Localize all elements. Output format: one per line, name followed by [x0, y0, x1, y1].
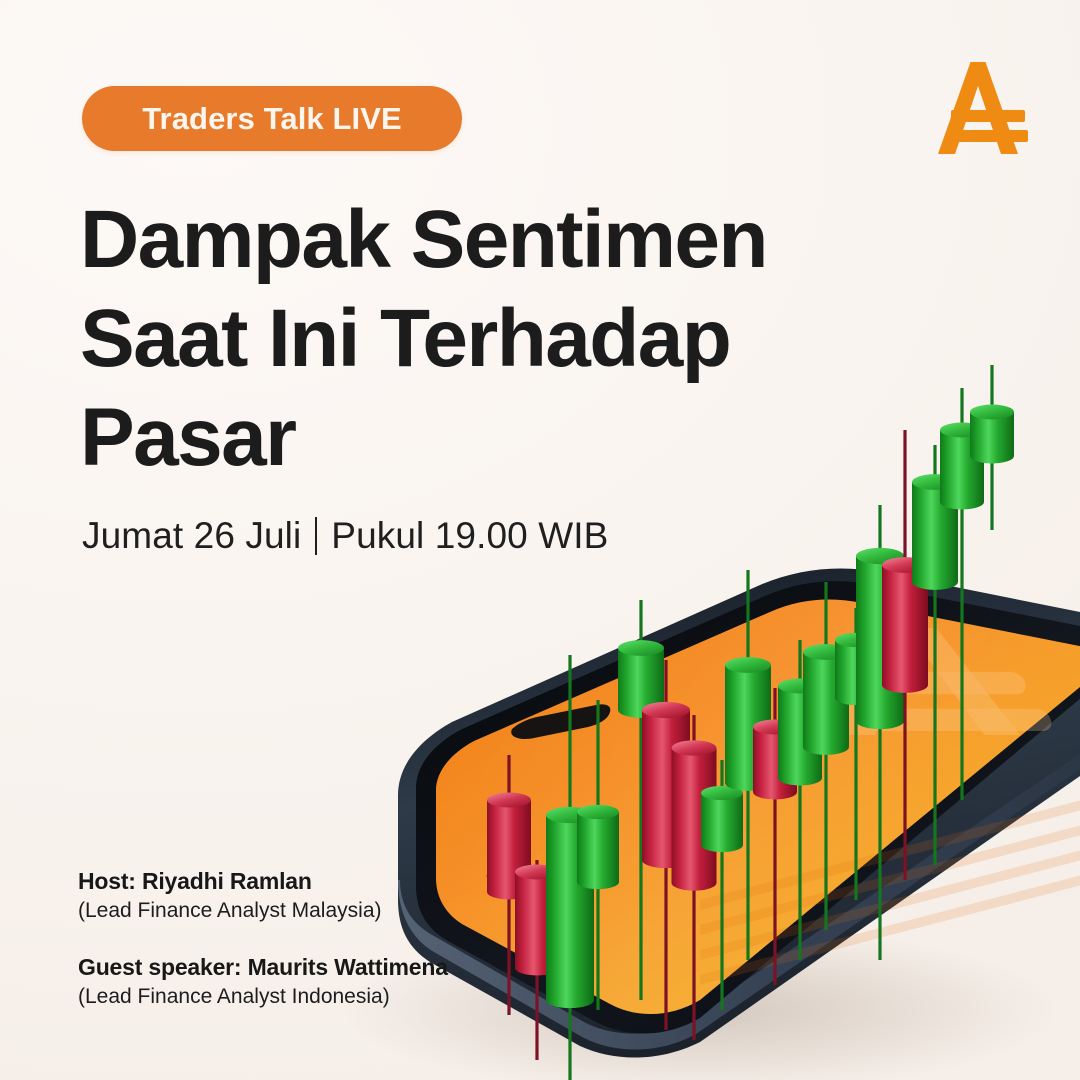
- schedule-date: Jumat 26 Juli: [82, 515, 301, 557]
- credit-guest: Guest speaker: Maurits Wattimena (Lead F…: [78, 952, 448, 1012]
- headline-line-2: Saat Ini Terhadap: [80, 289, 800, 388]
- schedule-separator: [315, 517, 317, 555]
- credit-guest-role: (Lead Finance Analyst Indonesia): [78, 982, 448, 1012]
- live-badge-label: Traders Talk LIVE: [142, 101, 402, 137]
- credits-block: Host: Riyadhi Ramlan (Lead Finance Analy…: [78, 866, 448, 1038]
- credit-host: Host: Riyadhi Ramlan (Lead Finance Analy…: [78, 866, 448, 926]
- headline-line-1: Dampak Sentimen: [80, 190, 800, 289]
- credit-host-role: (Lead Finance Analyst Malaysia): [78, 896, 448, 926]
- schedule-line: Jumat 26 Juli Pukul 19.00 WIB: [82, 515, 608, 557]
- page-title: Dampak Sentimen Saat Ini Terhadap Pasar: [80, 190, 800, 487]
- live-badge: Traders Talk LIVE: [82, 86, 462, 151]
- credit-host-name: Host: Riyadhi Ramlan: [78, 866, 448, 896]
- arrow-a-logo: [936, 58, 1032, 158]
- credit-guest-name: Guest speaker: Maurits Wattimena: [78, 952, 448, 982]
- schedule-time: Pukul 19.00 WIB: [331, 515, 608, 557]
- headline-line-3: Pasar: [80, 388, 800, 487]
- promo-poster: Traders Talk LIVE Dampak Sentimen Saat I…: [0, 0, 1080, 1080]
